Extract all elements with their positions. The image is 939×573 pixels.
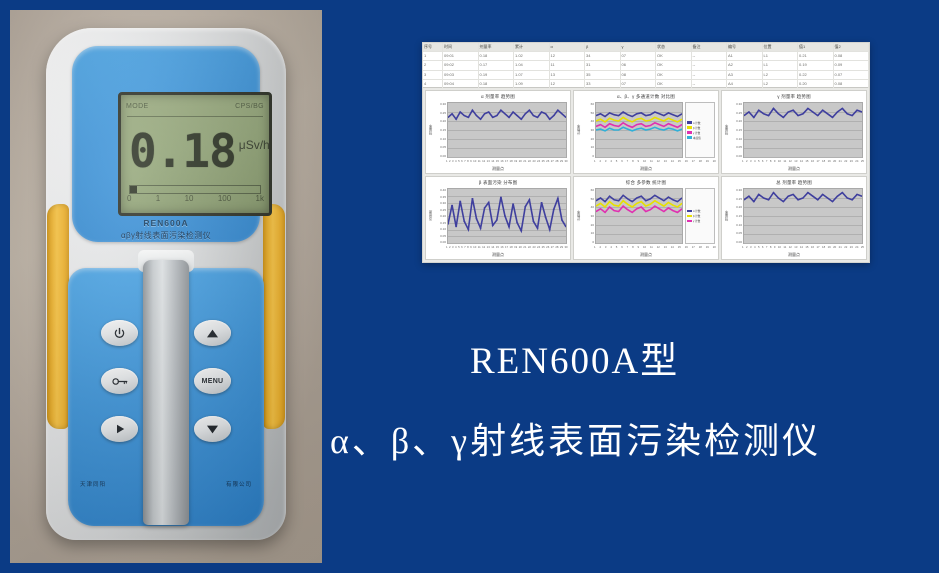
table-header-cell: 状态 — [656, 43, 692, 51]
chart-data-point — [668, 197, 670, 198]
legend-swatch — [687, 126, 692, 129]
chart-data-point — [600, 113, 602, 114]
chart-data-point — [500, 197, 502, 198]
chart-x-tick: 1 — [594, 159, 596, 166]
chart-data-point — [640, 123, 642, 124]
chart-x-tick: 28 — [555, 245, 558, 252]
legend-swatch — [687, 121, 692, 124]
chart-data-point — [654, 195, 656, 196]
chart-x-tick: 13 — [794, 245, 797, 252]
chart-x-tick: 12 — [789, 159, 792, 166]
table-cell: 4 — [423, 80, 443, 88]
chart-y-tick: 0.15 — [433, 128, 446, 132]
chart-x-tick: 13 — [664, 159, 667, 166]
chart-gridline — [448, 243, 566, 244]
chart-data-point — [636, 198, 638, 199]
table-cell: 09:02 — [443, 61, 479, 69]
chart-x-tick: 5 — [616, 245, 618, 252]
device-front-upper: MODE CPS/BG 0.18 μSv/h 0 1 10 100 1k — [72, 46, 260, 242]
chart-panel: 总 剂量率 趋势图剂量率0.300.250.200.150.100.050.00… — [721, 176, 867, 260]
chart-data-point — [516, 222, 518, 223]
chart-y-tick: 0.05 — [433, 145, 446, 149]
chart-data-point — [488, 202, 490, 203]
chart-x-tick: 2 — [746, 159, 748, 166]
chart-x-tick: 8 — [467, 245, 469, 252]
chart-data-point — [631, 127, 633, 128]
chart-panel: α、β、γ 多通道计数 对比图计数率6050403020100α 计数β 计数γ… — [573, 90, 719, 174]
chart-data-point — [645, 115, 647, 116]
chart-data-point — [787, 196, 789, 197]
chart-data-point — [604, 116, 606, 117]
table-cell: OK — [656, 52, 692, 60]
chart-data-point — [654, 117, 656, 118]
chart-x-tick: 30 — [564, 159, 567, 166]
chart-x-tick: 28 — [555, 159, 558, 166]
chart-data-point — [668, 112, 670, 113]
lcd-scale-tick: 10 — [185, 194, 194, 203]
chart-x-tick: 9 — [774, 159, 776, 166]
chart-data-point — [812, 196, 814, 197]
chart-y-tick: 10 — [581, 145, 594, 149]
chart-x-tick: 10 — [778, 245, 781, 252]
chart-plot-area — [447, 188, 567, 244]
legend-item: 本底值 — [687, 136, 713, 140]
legend-label: α 计数 — [693, 121, 700, 125]
chart-panel: β 表面污染 分布图污染度0.400.350.300.250.200.150.1… — [425, 176, 571, 260]
chart-data-point — [782, 117, 784, 118]
chart-plot-area — [595, 188, 683, 244]
chart-data-point — [792, 110, 794, 111]
chart-y-tick: 10 — [581, 231, 594, 235]
chart-data-point — [659, 198, 661, 199]
device-description-label: αβγ射线表面污染检测仪 — [72, 230, 260, 241]
chart-data-point — [475, 218, 477, 219]
down-button[interactable] — [194, 416, 231, 442]
chart-data-point — [622, 195, 624, 196]
chart-data-point — [504, 216, 506, 217]
chart-x-axis-label: 测量点 — [574, 252, 718, 259]
chart-data-point — [467, 117, 469, 118]
chart-gridline — [596, 243, 682, 244]
chart-x-tick: 23 — [850, 245, 853, 252]
chart-data-point — [677, 212, 679, 213]
chart-data-point — [622, 206, 624, 207]
chart-x-tick: 2 — [449, 245, 451, 252]
chart-data-point — [492, 225, 494, 226]
legend-label: γ 计数 — [693, 131, 700, 135]
chart-data-point — [672, 129, 674, 130]
chart-data-point — [772, 108, 774, 109]
chart-y-axis-label: 计数率 — [576, 188, 581, 244]
chart-data-point — [604, 127, 606, 128]
chart-data-point — [645, 200, 647, 201]
chart-data-point — [448, 224, 449, 225]
chart-data-point — [640, 196, 642, 197]
chart-data-point — [627, 198, 629, 199]
table-cell: A3 — [727, 71, 763, 79]
chart-data-point — [455, 226, 457, 227]
chart-data-point — [650, 204, 652, 205]
chart-data-point — [557, 198, 559, 199]
chart-data-point — [631, 207, 633, 208]
chart-x-tick: 3 — [605, 159, 607, 166]
chart-x-tick: 21 — [523, 245, 526, 252]
chart-x-tick: 4 — [455, 245, 457, 252]
chart-data-point — [600, 203, 602, 204]
menu-button[interactable]: MENU — [194, 368, 231, 394]
chart-x-ticks: 1234567891011121314151617181920212223242… — [722, 159, 866, 166]
chart-data-point — [851, 115, 853, 116]
chart-series-line — [744, 108, 862, 117]
chart-x-tick: 24 — [537, 245, 540, 252]
table-cell: OK — [656, 80, 692, 88]
chart-x-tick: 7 — [766, 245, 768, 252]
chart-x-tick: 14 — [491, 245, 494, 252]
chart-data-point — [613, 210, 615, 211]
page-subtitle: α、β、γ射线表面污染检测仪 — [330, 412, 930, 464]
chart-data-point — [496, 220, 498, 221]
table-cell: 1.04 — [514, 61, 550, 69]
chart-data-point — [459, 112, 461, 113]
chart-data-point — [475, 115, 477, 116]
chart-x-axis-label: 测量点 — [722, 252, 866, 259]
product-photo: MODE CPS/BG 0.18 μSv/h 0 1 10 100 1k — [10, 10, 322, 563]
chart-data-point — [627, 204, 629, 205]
chart-x-tick: 12 — [482, 159, 485, 166]
legend-item: γ 计数 — [687, 131, 713, 135]
up-button[interactable] — [194, 320, 231, 346]
chart-data-point — [622, 112, 624, 113]
chart-x-tick: 26 — [546, 245, 549, 252]
chart-x-tick: 19 — [706, 159, 709, 166]
table-cell: 1.09 — [514, 80, 550, 88]
chart-data-point — [627, 125, 629, 126]
chart-x-tick: 12 — [657, 245, 660, 252]
table-cell: 13 — [550, 71, 586, 79]
chart-panel: α 剂量率 趋势图剂量率0.300.250.200.150.100.050.00… — [425, 90, 571, 174]
chart-y-tick: 0.00 — [433, 154, 446, 158]
chart-x-tick: 14 — [800, 159, 803, 166]
table-header-cell: β — [585, 43, 621, 51]
chart-data-point — [492, 117, 494, 118]
chart-data-point — [618, 200, 620, 201]
chart-data-point — [659, 119, 661, 120]
chart-x-tick: 17 — [505, 159, 508, 166]
chart-data-point — [604, 201, 606, 202]
chart-data-point — [532, 221, 534, 222]
table-row: 209:020.171.04113106OK--A2L10.190.09 — [423, 61, 869, 70]
chart-data-point — [777, 198, 779, 199]
chart-panel: 综合 多参数 统计图计数率6050403020100α 计数β 计数γ 计数12… — [573, 176, 719, 260]
chart-x-tick: 15 — [678, 159, 681, 166]
chart-x-tick: 12 — [789, 245, 792, 252]
lcd-scale-tick: 1k — [256, 194, 264, 203]
chart-data-point — [792, 194, 794, 195]
table-header-cell: 累计 — [514, 43, 550, 51]
chart-data-point — [654, 200, 656, 201]
chart-data-point — [479, 119, 481, 120]
chart-data-point — [524, 113, 526, 114]
chart-data-point — [631, 130, 633, 131]
chart-x-tick: 26 — [546, 159, 549, 166]
chart-data-point — [677, 127, 679, 128]
chart-y-tick: 0.10 — [729, 137, 742, 141]
chart-x-tick: 17 — [816, 245, 819, 252]
chart-y-tick: 50 — [581, 197, 594, 201]
chart-x-tick: 20 — [833, 245, 836, 252]
slide-canvas: MODE CPS/BG 0.18 μSv/h 0 1 10 100 1k — [0, 0, 939, 573]
chart-data-point — [609, 207, 611, 208]
lcd-mode-indicator: MODE — [126, 103, 149, 110]
chart-data-point — [827, 198, 829, 199]
chart-data-point — [768, 199, 770, 200]
chart-data-point — [659, 208, 661, 209]
chart-x-tick: 2 — [746, 245, 748, 252]
chart-x-tick: 8 — [770, 159, 772, 166]
chart-data-point — [508, 117, 510, 118]
chart-data-point — [631, 116, 633, 117]
chart-data-point — [654, 112, 656, 113]
chart-data-point — [520, 230, 522, 231]
chart-data-point — [528, 199, 530, 200]
chart-data-point — [604, 212, 606, 213]
data-table: 序号时间剂量率累计αβγ状态备注编号位置值1值2109:010.181.0212… — [423, 43, 869, 88]
chart-data-point — [618, 211, 620, 212]
chart-data-point — [663, 200, 665, 201]
chart-data-point — [600, 208, 602, 209]
chart-data-point — [772, 192, 774, 193]
chart-y-tick: 0.40 — [433, 188, 446, 192]
grip-right — [263, 204, 285, 429]
search-button[interactable] — [101, 368, 138, 394]
power-button[interactable] — [101, 320, 138, 346]
chart-y-tick: 0.00 — [729, 240, 742, 244]
chart-data-point — [650, 198, 652, 199]
chart-data-point — [654, 127, 656, 128]
chart-x-tick: 27 — [551, 159, 554, 166]
chart-y-tick: 0.10 — [729, 223, 742, 227]
chart-data-point — [659, 203, 661, 204]
table-cell: 09:01 — [443, 52, 479, 60]
table-cell: 11 — [550, 61, 586, 69]
chart-data-point — [557, 110, 559, 111]
chart-x-tick: 5 — [758, 159, 760, 166]
chart-x-axis-label: 测量点 — [426, 252, 570, 259]
chart-plot-area — [447, 102, 567, 158]
chart-y-tick: 0.05 — [729, 231, 742, 235]
chart-data-point — [672, 125, 674, 126]
chart-x-tick: 4 — [754, 159, 756, 166]
chart-y-tick: 0.20 — [433, 214, 446, 218]
chart-x-tick: 21 — [839, 245, 842, 252]
chart-x-tick: 9 — [470, 159, 472, 166]
chart-x-tick: 25 — [542, 245, 545, 252]
chart-x-tick: 6 — [461, 245, 463, 252]
chart-data-point — [618, 126, 620, 127]
chart-x-tick: 5 — [458, 159, 460, 166]
chart-data-point — [812, 112, 814, 113]
chart-data-point — [645, 206, 647, 207]
chart-x-tick: 19 — [514, 159, 517, 166]
chart-y-ticks: 6050403020100 — [581, 102, 595, 158]
table-header-cell: 值2 — [834, 43, 870, 51]
chart-x-tick: 13 — [487, 245, 490, 252]
chart-x-tick: 21 — [839, 159, 842, 166]
legend-item: α 计数 — [687, 121, 713, 125]
chart-x-tick: 19 — [706, 245, 709, 252]
chart-data-point — [817, 115, 819, 116]
chart-data-point — [600, 119, 602, 120]
chart-y-tick: 0.30 — [729, 102, 742, 106]
chart-data-point — [600, 129, 602, 130]
chart-x-tick: 18 — [699, 245, 702, 252]
chart-y-tick: 0 — [581, 240, 594, 244]
chart-x-tick: 23 — [532, 159, 535, 166]
chart-data-point — [622, 122, 624, 123]
chart-x-tick: 2 — [599, 159, 601, 166]
chart-x-tick: 13 — [487, 159, 490, 166]
play-button[interactable] — [101, 416, 138, 442]
chart-x-tick: 5 — [458, 245, 460, 252]
triangle-down-icon — [206, 424, 219, 435]
chart-data-point — [604, 121, 606, 122]
chart-data-point — [636, 124, 638, 125]
chart-data-point — [787, 112, 789, 113]
chart-x-tick: 4 — [610, 159, 612, 166]
chart-x-tick: 7 — [464, 245, 466, 252]
chart-x-tick: 16 — [685, 245, 688, 252]
chart-y-tick: 40 — [581, 205, 594, 209]
chart-data-point — [636, 129, 638, 130]
chart-x-tick: 1 — [594, 245, 596, 252]
chart-x-tick: 15 — [496, 245, 499, 252]
chart-data-point — [463, 115, 465, 116]
chart-x-tick: 22 — [844, 159, 847, 166]
table-cell: 12 — [550, 80, 586, 88]
chart-data-point — [802, 198, 804, 199]
chart-data-point — [763, 198, 765, 199]
chart-data-point — [484, 207, 486, 208]
chart-data-point — [672, 199, 674, 200]
table-cell: 0.21 — [798, 52, 834, 60]
chart-data-point — [668, 207, 670, 208]
device-model-label: REN600A — [72, 218, 260, 228]
device-ren600a: MODE CPS/BG 0.18 μSv/h 0 1 10 100 1k — [46, 28, 286, 548]
table-cell: 0.18 — [479, 52, 515, 60]
chart-data-point — [672, 210, 674, 211]
chart-x-tick: 10 — [643, 159, 646, 166]
chart-data-point — [622, 127, 624, 128]
chart-x-tick: 3 — [750, 159, 752, 166]
chart-series-line — [448, 197, 566, 231]
chart-y-tick: 50 — [581, 111, 594, 115]
table-header-cell: 剂量率 — [479, 43, 515, 51]
chart-x-tick: 11 — [478, 159, 481, 166]
lcd-bargraph — [129, 185, 261, 194]
chart-x-axis-label: 测量点 — [722, 166, 866, 173]
chart-x-tick: 14 — [800, 245, 803, 252]
chart-series-line — [596, 127, 682, 131]
chart-y-tick: 0.25 — [729, 111, 742, 115]
chart-y-tick: 60 — [581, 188, 594, 192]
chart-data-point — [512, 112, 514, 113]
chart-x-tick: 15 — [805, 245, 808, 252]
chart-gridline — [448, 157, 566, 158]
magnifier-key-icon — [112, 376, 128, 387]
chart-y-tick: 30 — [581, 128, 594, 132]
chart-data-point — [609, 112, 611, 113]
chart-panel: γ 剂量率 趋势图剂量率0.300.250.200.150.100.050.00… — [721, 90, 867, 174]
table-cell: A2 — [727, 61, 763, 69]
chart-x-tick: 7 — [766, 159, 768, 166]
chart-x-tick: 13 — [664, 245, 667, 252]
chart-x-tick: 2 — [449, 159, 451, 166]
chart-data-point — [758, 194, 760, 195]
lcd-value: 0.18 — [129, 128, 236, 174]
chart-x-tick: 1 — [742, 159, 744, 166]
triangle-up-icon — [206, 328, 219, 339]
table-cell: 1 — [423, 52, 443, 60]
lcd-unit: μSv/h — [239, 138, 270, 152]
chart-x-tick: 22 — [528, 159, 531, 166]
chart-data-point — [807, 192, 809, 193]
chart-data-point — [654, 122, 656, 123]
chart-y-ticks: 0.300.250.200.150.100.050.00 — [433, 102, 447, 158]
chart-data-point — [672, 205, 674, 206]
chart-data-point — [613, 130, 615, 131]
chart-data-point — [536, 228, 538, 229]
chart-data-point — [663, 211, 665, 212]
legend-swatch — [687, 131, 692, 134]
table-cell: 0.18 — [479, 80, 515, 88]
legend-item: γ 计数 — [687, 219, 713, 223]
chart-data-point — [455, 119, 457, 120]
chart-data-point — [600, 198, 602, 199]
chart-x-tick: 6 — [461, 159, 463, 166]
chart-data-point — [609, 196, 611, 197]
chart-x-tick: 12 — [482, 245, 485, 252]
chart-x-tick: 10 — [643, 245, 646, 252]
table-header-cell: 位置 — [763, 43, 799, 51]
table-cell: 0.19 — [798, 61, 834, 69]
lcd-screen: MODE CPS/BG 0.18 μSv/h 0 1 10 100 1k — [118, 92, 272, 216]
chart-y-ticks: 0.300.250.200.150.100.050.00 — [729, 188, 743, 244]
chart-y-tick: 0.15 — [433, 221, 446, 225]
play-icon — [114, 423, 126, 435]
chart-x-tick: 11 — [783, 159, 786, 166]
chart-x-tick: 11 — [783, 245, 786, 252]
chart-data-point — [650, 125, 652, 126]
chart-y-axis-label: 剂量率 — [724, 102, 729, 158]
chart-data-point — [636, 208, 638, 209]
chart-x-tick: 14 — [671, 245, 674, 252]
chart-data-point — [668, 118, 670, 119]
chart-x-tick: 6 — [621, 245, 623, 252]
chart-x-tick: 9 — [638, 245, 640, 252]
chart-x-tick: 12 — [657, 159, 660, 166]
chart-x-tick: 3 — [452, 245, 454, 252]
chart-data-point — [500, 110, 502, 111]
chart-data-point — [640, 201, 642, 202]
chart-gridline — [744, 157, 862, 158]
table-header-row: 序号时间剂量率累计αβγ状态备注编号位置值1值2 — [423, 43, 869, 52]
chart-x-tick: 10 — [473, 159, 476, 166]
chart-data-point — [504, 113, 506, 114]
table-cell: 07 — [621, 52, 657, 60]
chart-x-tick: 3 — [750, 245, 752, 252]
chart-data-point — [640, 128, 642, 129]
chart-data-point — [613, 114, 615, 115]
